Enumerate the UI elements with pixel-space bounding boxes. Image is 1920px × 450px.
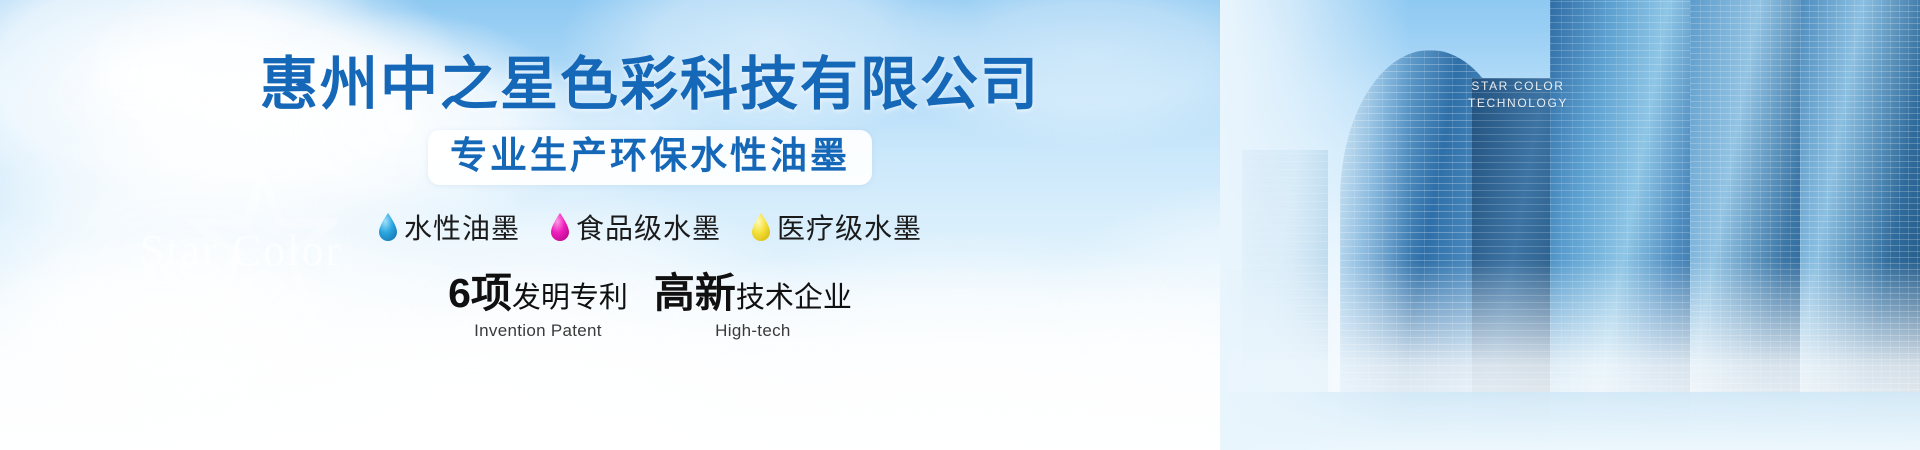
company-name-heading: 惠州中之星色彩科技有限公司: [260, 56, 1040, 114]
badge-headline: 高新: [654, 270, 736, 316]
badge-english-line: High-tech: [654, 321, 852, 341]
city-watermark-line-1: STAR COLOR: [1468, 78, 1568, 95]
product-feature-list: 水性油墨 食品级水墨: [378, 207, 922, 247]
building: [1550, 0, 1700, 450]
building: [1800, 0, 1920, 450]
feature-label: 食品级水墨: [576, 207, 721, 247]
credential-badge-list: 6项发明专利 Invention Patent 高新技术企业 High-tech: [448, 273, 852, 341]
badge-chinese-line: 高新技术企业: [654, 273, 852, 314]
badge-invention-patent: 6项发明专利 Invention Patent: [448, 273, 628, 341]
water-drop-icon: [751, 213, 771, 241]
feature-label: 医疗级水墨: [777, 207, 922, 247]
badge-high-tech-enterprise: 高新技术企业 High-tech: [654, 273, 852, 341]
feature-item-medical-grade-ink: 医疗级水墨: [751, 207, 922, 247]
city-watermark: STAR COLOR TECHNOLOGY: [1468, 78, 1568, 112]
feature-item-water-ink: 水性油墨: [378, 207, 520, 247]
water-drop-icon: [550, 213, 570, 241]
tagline-pill: 专业生产环保水性油墨: [428, 130, 872, 185]
city-watermark-line-2: TECHNOLOGY: [1468, 95, 1568, 112]
building: [1690, 0, 1810, 450]
plaza-ground: [1220, 392, 1920, 450]
city-skyline-photo: STAR COLOR TECHNOLOGY: [1220, 0, 1920, 450]
tagline-text: 专业生产环保水性油墨: [450, 135, 850, 176]
water-drop-icon: [378, 213, 398, 241]
badge-chinese-line: 6项发明专利: [448, 273, 628, 314]
badge-subline: 发明专利: [512, 282, 628, 314]
badge-subline: 技术企业: [736, 282, 852, 314]
banner-content: 惠州中之星色彩科技有限公司 专业生产环保水性油墨 水性油墨: [0, 0, 1300, 450]
badge-english-line: Invention Patent: [448, 321, 628, 341]
company-hero-banner: STAR COLOR TECHNOLOGY Star Color 惠州中之星色彩…: [0, 0, 1920, 450]
feature-item-food-grade-ink: 食品级水墨: [550, 207, 721, 247]
badge-headline: 6项: [448, 270, 512, 316]
feature-label: 水性油墨: [404, 207, 520, 247]
